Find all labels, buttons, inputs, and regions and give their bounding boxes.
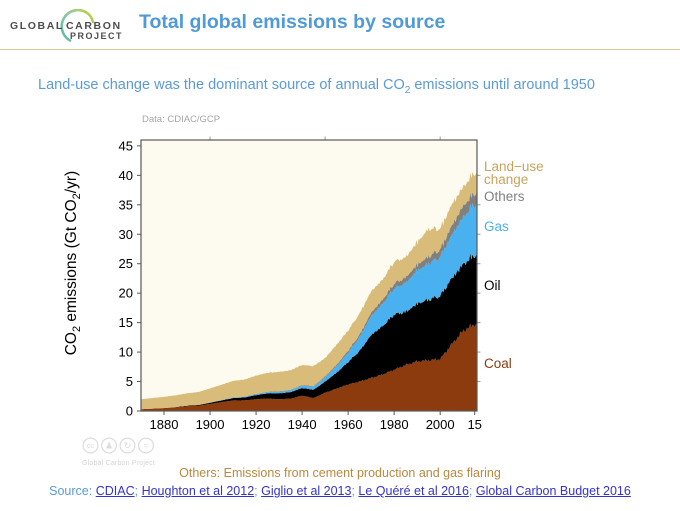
header-divider [0, 49, 680, 50]
x-tick-label-1980: 1980 [380, 417, 409, 432]
svg-text:cc: cc [87, 443, 95, 450]
legend-label-oil: Oil [484, 278, 501, 293]
y-tick-label-25: 25 [119, 256, 133, 271]
subtitle-part1: Land-use change was the dominant source … [38, 77, 405, 93]
legend-label-land-use-change-line2: change [484, 172, 528, 187]
legend-label-gas: Gas [484, 219, 509, 234]
global-carbon-project-logo: GLOBAL CARBON PROJECT [8, 9, 126, 43]
logo-text-project: PROJECT [70, 31, 123, 41]
y-tick-label-10: 10 [119, 345, 133, 360]
y-tick-label-5: 5 [126, 374, 133, 389]
y-tick-label-20: 20 [119, 286, 133, 301]
stacked-area-chart: 0510152025303540451880190019201940196019… [0, 105, 680, 445]
x-tick-label-1960: 1960 [334, 417, 363, 432]
x-tick-label-1900: 1900 [196, 417, 225, 432]
svg-text:↻: ↻ [124, 441, 132, 451]
legend-label-others: Others [484, 189, 525, 204]
x-tick-label-2015: 15 [467, 417, 481, 432]
y-tick-label-0: 0 [126, 404, 133, 419]
x-tick-label-2000: 2000 [426, 417, 455, 432]
legend-label-coal: Coal [484, 356, 512, 371]
page-title: Total global emissions by source [139, 11, 445, 34]
y-tick-label-45: 45 [119, 138, 133, 153]
y-tick-label-40: 40 [119, 168, 133, 183]
footer-link-1[interactable]: Houghton et al 2012 [142, 484, 255, 498]
x-tick-label-1880: 1880 [150, 417, 179, 432]
footer-others-note: Others: Emissions from cement production… [0, 466, 680, 480]
footer-link-4[interactable]: Global Carbon Budget 2016 [476, 484, 631, 498]
page-header: GLOBAL CARBON PROJECT Total global emiss… [0, 0, 680, 51]
footer-link-separator: ; [469, 484, 476, 498]
y-tick-label-15: 15 [119, 315, 133, 330]
svg-text:♟: ♟ [105, 441, 113, 451]
svg-text:=: = [143, 441, 148, 451]
cc-license-icons: cc ♟ ↻ = [82, 437, 160, 454]
x-tick-label-1940: 1940 [288, 417, 317, 432]
subtitle: Land-use change was the dominant source … [38, 77, 595, 96]
chart-container: CO2 emissions (Gt CO2/yr) Data: CDIAC/GC… [0, 105, 680, 460]
logo-text-global: GLOBAL [10, 20, 64, 32]
footer-link-3[interactable]: Le Quéré et al 2016 [358, 484, 469, 498]
x-tick-label-1920: 1920 [242, 417, 271, 432]
subtitle-part2: emissions until around 1950 [410, 77, 595, 93]
footer-source-label: Source: [49, 484, 96, 498]
page-footer: Others: Emissions from cement production… [0, 466, 680, 498]
y-tick-label-35: 35 [119, 197, 133, 212]
footer-link-2[interactable]: Giglio et al 2013 [261, 484, 351, 498]
footer-link-0[interactable]: CDIAC [96, 484, 135, 498]
y-tick-label-30: 30 [119, 227, 133, 242]
footer-link-separator: ; [135, 484, 142, 498]
creative-commons-block: cc ♟ ↻ = Global Carbon Project [82, 437, 160, 467]
footer-source-line: Source: CDIAC; Houghton et al 2012; Gigl… [0, 484, 680, 498]
